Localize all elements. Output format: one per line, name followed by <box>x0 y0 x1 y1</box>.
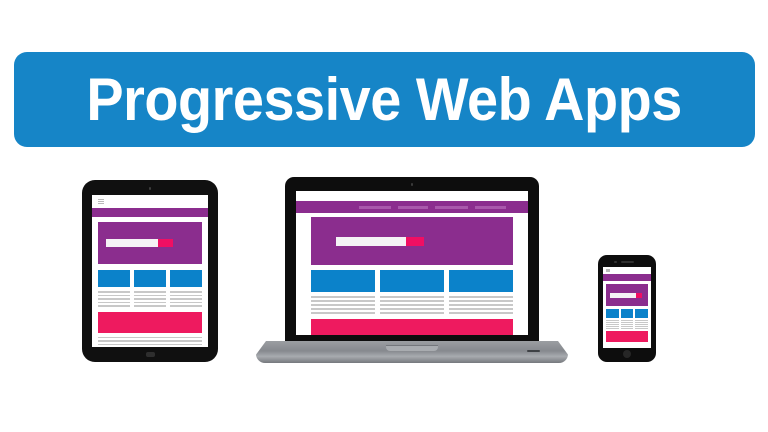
nav-item[interactable] <box>398 206 428 209</box>
text-line <box>311 304 375 306</box>
content-card[interactable] <box>635 309 648 318</box>
text-line <box>134 298 166 300</box>
search-input[interactable] <box>610 293 636 298</box>
tablet-card-row <box>98 270 202 287</box>
text-line <box>98 295 130 297</box>
text-line <box>380 308 444 310</box>
nav-item[interactable] <box>435 206 468 209</box>
text-line <box>311 300 375 302</box>
hamburger-bar <box>606 271 610 272</box>
hamburger-bar <box>98 203 104 204</box>
phone-card-row <box>606 309 648 318</box>
hamburger-bar <box>98 199 104 200</box>
text-column <box>134 291 166 307</box>
device-laptop <box>256 177 568 363</box>
content-card[interactable] <box>134 270 166 287</box>
text-line <box>170 295 202 297</box>
text-line <box>621 324 634 325</box>
text-line <box>98 305 130 307</box>
camera-icon <box>411 183 414 186</box>
text-column <box>170 291 202 307</box>
text-line <box>380 312 444 314</box>
laptop-topbar <box>296 191 528 201</box>
laptop-lid-notch <box>386 345 438 351</box>
text-line <box>170 291 202 293</box>
text-line <box>635 328 648 329</box>
search-button[interactable] <box>636 293 642 298</box>
laptop-lid <box>285 177 539 343</box>
text-line <box>98 340 202 342</box>
text-line <box>380 300 444 302</box>
laptop-text-columns <box>311 296 513 314</box>
text-line <box>621 320 634 321</box>
text-line <box>134 291 166 293</box>
search-input[interactable] <box>106 239 158 247</box>
text-line <box>380 304 444 306</box>
laptop-side-port <box>527 350 540 352</box>
phone-topbar <box>603 267 651 274</box>
hamburger-menu-icon[interactable] <box>98 199 104 204</box>
page-title-banner: Progressive Web Apps <box>14 52 755 147</box>
tablet-footer-lines <box>98 337 202 346</box>
laptop-card-row <box>311 270 513 292</box>
laptop-hero <box>311 217 513 265</box>
tablet-text-columns <box>98 291 202 307</box>
content-card[interactable] <box>170 270 202 287</box>
hamburger-bar <box>98 201 104 202</box>
text-line <box>98 337 202 339</box>
text-line <box>635 320 648 321</box>
text-line <box>311 308 375 310</box>
text-line <box>134 295 166 297</box>
laptop-screen <box>296 191 528 335</box>
text-line <box>621 322 634 323</box>
promo-banner[interactable] <box>311 319 513 336</box>
home-button[interactable] <box>146 352 155 357</box>
text-column <box>606 320 619 329</box>
speaker-icon <box>621 261 634 263</box>
device-phone <box>598 255 656 362</box>
text-line <box>380 296 444 298</box>
text-line <box>606 322 619 323</box>
search-button[interactable] <box>158 239 173 247</box>
text-line <box>606 320 619 321</box>
text-line <box>635 324 648 325</box>
page-title: Progressive Web Apps <box>87 70 682 130</box>
text-line <box>134 302 166 304</box>
device-tablet <box>82 180 218 362</box>
content-card[interactable] <box>606 309 619 318</box>
text-line <box>170 302 202 304</box>
text-line <box>449 296 513 298</box>
home-button[interactable] <box>623 350 631 358</box>
laptop-content <box>296 213 528 335</box>
text-line <box>621 326 634 327</box>
tablet-content <box>92 217 208 347</box>
search-button[interactable] <box>406 237 424 246</box>
text-line <box>449 312 513 314</box>
text-line <box>170 305 202 307</box>
laptop-base <box>256 341 568 363</box>
content-card[interactable] <box>621 309 634 318</box>
camera-icon <box>149 187 152 190</box>
text-line <box>449 308 513 310</box>
content-card[interactable] <box>98 270 130 287</box>
search-input[interactable] <box>336 237 406 246</box>
text-line <box>170 298 202 300</box>
text-column <box>635 320 648 329</box>
text-line <box>311 296 375 298</box>
phone-navbar <box>603 274 651 281</box>
text-line <box>449 300 513 302</box>
phone-content <box>603 281 651 348</box>
text-line <box>134 305 166 307</box>
text-column <box>380 296 444 314</box>
phone-screen <box>603 267 651 348</box>
text-line <box>606 328 619 329</box>
text-line <box>449 304 513 306</box>
laptop-navbar <box>296 201 528 213</box>
phone-text-columns <box>606 320 648 329</box>
text-line <box>606 324 619 325</box>
promo-banner[interactable] <box>606 331 648 342</box>
text-line <box>635 326 648 327</box>
tablet-navbar <box>92 208 208 217</box>
tablet-screen <box>92 195 208 347</box>
tablet-topbar <box>92 195 208 208</box>
text-line <box>98 302 130 304</box>
text-line <box>98 291 130 293</box>
promo-banner[interactable] <box>98 312 202 333</box>
nav-item[interactable] <box>475 206 506 209</box>
text-column <box>621 320 634 329</box>
phone-hero <box>606 284 648 306</box>
content-card[interactable] <box>311 270 375 292</box>
text-line <box>311 312 375 314</box>
hamburger-menu-icon[interactable] <box>606 269 610 272</box>
tablet-hero <box>98 222 202 264</box>
content-card[interactable] <box>449 270 513 292</box>
text-line <box>621 328 634 329</box>
text-line <box>98 344 202 346</box>
text-line <box>606 326 619 327</box>
nav-item[interactable] <box>359 206 391 209</box>
content-card[interactable] <box>380 270 444 292</box>
text-line <box>98 298 130 300</box>
camera-icon <box>614 261 617 264</box>
text-column <box>98 291 130 307</box>
text-column <box>311 296 375 314</box>
text-line <box>635 322 648 323</box>
text-column <box>449 296 513 314</box>
